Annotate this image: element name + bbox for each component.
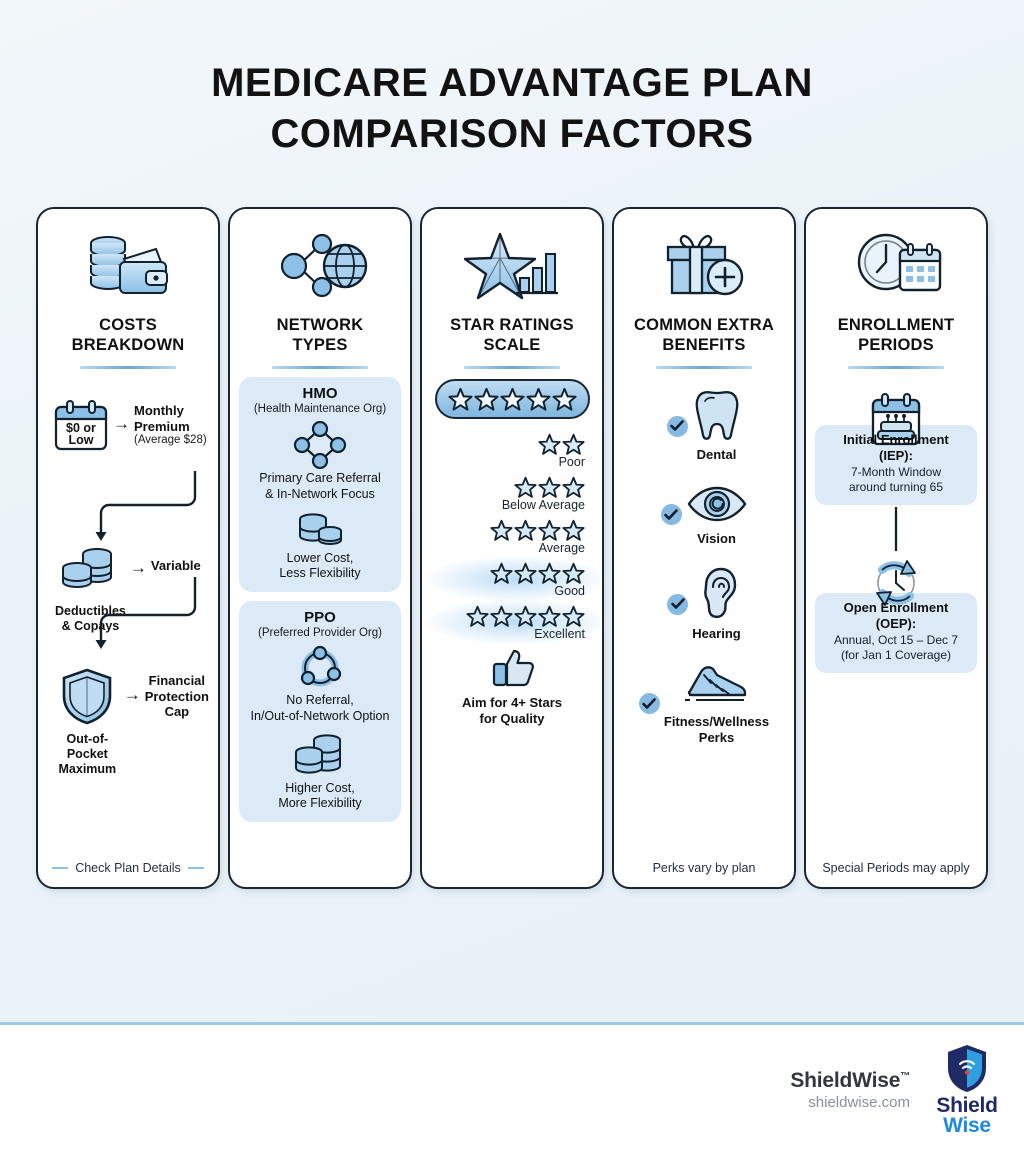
sneaker-icon [680, 662, 754, 713]
oop-caption-l1: Out-of-Pocket [67, 732, 109, 761]
page-footer: ShieldWise™ shieldwise.com Shield Wise [0, 1025, 1024, 1154]
card-star-ratings[interactable]: STAR RATINGS SCALE PoorBelow AverageAver… [420, 207, 604, 889]
card-title-star-l1: STAR RATINGS [450, 316, 574, 334]
period-iep-name: Initial Enrollment (IEP): [821, 432, 971, 464]
check-icon-4 [639, 693, 660, 714]
card-title-enrollment-l1: ENROLLMENT [838, 316, 955, 334]
plan-hmo-text-2a: Lower Cost, [287, 551, 354, 565]
premium-label-1: Monthly [134, 403, 207, 419]
card-network-types[interactable]: NETWORK TYPES HMO (Health Maintenance Or… [228, 207, 412, 889]
enrollment-periods: Initial Enrollment (IEP): 7-Month Window… [815, 377, 977, 861]
card-title-enrollment: ENROLLMENT PERIODS [838, 315, 955, 355]
period-iep-box: Initial Enrollment (IEP): 7-Month Window… [815, 425, 977, 505]
variable-label: Variable [151, 558, 201, 574]
premium-label-2: Premium [134, 419, 207, 435]
plan-ppo-text-2: Higher Cost, More Flexibility [245, 781, 395, 812]
rating-row-average[interactable]: Average [431, 519, 593, 555]
benefit-vision-label: Vision [697, 531, 736, 547]
costs-footer: Check Plan Details [52, 861, 204, 877]
period-oep-name-l2: (OEP): [876, 616, 916, 631]
plan-hmo-text-1b: & In-Network Focus [265, 487, 375, 501]
premium-average: (Average $28) [134, 434, 207, 446]
coins-wallet-icon [82, 225, 174, 307]
plan-hmo-text-2: Lower Cost, Less Flexibility [245, 551, 395, 582]
aim-text-l2: for Quality [479, 711, 544, 726]
period-oep-name-l1: Open Enrollment [844, 600, 949, 615]
star-icon [538, 433, 561, 456]
thumbs-up-icon [431, 648, 593, 693]
enrollment-footer-text: Special Periods may apply [822, 861, 969, 875]
clock-calendar-icon [850, 225, 942, 307]
check-icon-2 [661, 504, 682, 525]
card-title-network-l2: TYPES [292, 336, 347, 354]
rating-stars [490, 562, 585, 585]
rating-stars [490, 519, 585, 542]
costs-footer-text: Check Plan Details [75, 861, 181, 875]
gift-plus-icon [659, 225, 749, 307]
title-rule-4 [656, 366, 752, 369]
card-extra-benefits[interactable]: COMMON EXTRA BENEFITS [612, 207, 796, 889]
card-title-star: STAR RATINGS SCALE [450, 315, 574, 355]
rating-label: Poor [559, 455, 585, 469]
title-rule-3 [464, 366, 560, 369]
check-icon-3 [667, 594, 688, 615]
star-icon [474, 387, 499, 412]
card-title-benefits-l2: BENEFITS [662, 336, 745, 354]
star-icon [490, 519, 513, 542]
network-globe-icon [272, 225, 368, 307]
plan-ppo[interactable]: PPO (Preferred Provider Org) No Referral… [239, 601, 401, 822]
five-star-pill [435, 379, 590, 419]
card-costs-breakdown[interactable]: COSTS BREAKDOWN $0 or Low [36, 207, 220, 889]
card-title-star-l2: SCALE [484, 336, 541, 354]
enrollment-connector [815, 505, 977, 553]
plan-ppo-text-1a: No Referral, [286, 693, 353, 707]
card-title-costs-l1: COSTS [99, 316, 157, 334]
star-icon [514, 605, 537, 628]
arrow-right-icon-2: → [130, 559, 147, 576]
plan-ppo-name: PPO [245, 609, 395, 626]
star-icon [526, 387, 551, 412]
network-ring-icon [245, 645, 395, 691]
check-icon [667, 416, 688, 437]
card-enrollment-periods[interactable]: ENROLLMENT PERIODS [804, 207, 988, 889]
svg-text:Low: Low [69, 433, 94, 447]
cap-label-3: Cap [145, 704, 209, 720]
brand-name-text: ShieldWise [790, 1069, 900, 1092]
coin-stacks-tall-icon [245, 733, 395, 779]
star-icon [538, 605, 561, 628]
brand-name: ShieldWise™ [790, 1069, 910, 1093]
plan-hmo-text-1: Primary Care Referral & In-Network Focus [245, 471, 395, 502]
benefit-fitness[interactable]: Fitness/Wellness Perks [623, 662, 785, 745]
period-oep-name: Open Enrollment (OEP): [821, 600, 971, 632]
star-icon [538, 562, 561, 585]
star-icon [562, 519, 585, 542]
title-line-1: MEDICARE ADVANTAGE PLAN [0, 58, 1024, 109]
star-icon [514, 519, 537, 542]
flow-connector-2 [91, 575, 201, 655]
network-plans: HMO (Health Maintenance Org) Primary Car… [239, 377, 401, 877]
benefit-vision[interactable]: Vision [623, 483, 785, 547]
title-rule-2 [272, 366, 368, 369]
brand-block: ShieldWise™ shieldwise.com [790, 1069, 910, 1111]
benefit-fitness-label: Fitness/Wellness Perks [664, 714, 769, 745]
brand-website: shieldwise.com [790, 1094, 910, 1111]
rating-row-poor[interactable]: Poor [431, 433, 593, 469]
arrow-right-icon: → [113, 415, 130, 432]
star-icon [538, 519, 561, 542]
rating-row-good[interactable]: Good [431, 562, 593, 598]
star-icon [466, 605, 489, 628]
benefit-dental[interactable]: Dental [623, 389, 785, 463]
infographic-page: MEDICARE ADVANTAGE PLAN COMPARISON FACTO… [0, 0, 1024, 1154]
period-oep-text: Annual, Oct 15 – Dec 7 (for Jan 1 Covera… [821, 633, 971, 663]
cost-step-premium: $0 or Low → Monthly Premium (Average $28… [53, 399, 207, 456]
cap-label-1: Financial [145, 673, 209, 689]
foot-dash-left [52, 867, 68, 869]
benefit-dental-label: Dental [697, 447, 737, 463]
foot-dash-right [188, 867, 204, 869]
benefits-list: Dental [623, 377, 785, 861]
costs-flow: $0 or Low → Monthly Premium (Average $28… [47, 377, 209, 861]
star-icon [448, 387, 473, 412]
star-icon [490, 562, 513, 585]
star-icon [514, 562, 537, 585]
plan-ppo-text-1b: In/Out-of-Network Option [251, 709, 390, 723]
star-icon [500, 387, 525, 412]
network-diamond-icon [245, 421, 395, 469]
star-icon [562, 476, 585, 499]
card-title-costs-l2: BREAKDOWN [72, 336, 185, 354]
comparison-cards: COSTS BREAKDOWN $0 or Low [36, 207, 988, 889]
card-title-enrollment-l2: PERIODS [858, 336, 934, 354]
plan-ppo-text-1: No Referral, In/Out-of-Network Option [245, 693, 395, 724]
trademark-symbol: ™ [900, 1071, 910, 1082]
star-icon [490, 605, 513, 628]
star-scale: PoorBelow AverageAverageGoodExcellent Ai… [431, 377, 593, 877]
rating-stars [466, 605, 585, 628]
logo-word-shield: Shield [936, 1096, 997, 1116]
rating-stars [514, 476, 585, 499]
plan-hmo-text-1a: Primary Care Referral [259, 471, 381, 485]
plan-hmo-name: HMO [245, 385, 395, 402]
aim-block: Aim for 4+ Stars for Quality [431, 648, 593, 726]
benefit-hearing[interactable]: Hearing [623, 566, 785, 642]
card-title-network: NETWORK TYPES [277, 315, 364, 355]
card-title-benefits: COMMON EXTRA BENEFITS [634, 315, 774, 355]
rating-row-below-average[interactable]: Below Average [431, 476, 593, 512]
star-icon [552, 387, 577, 412]
coin-stacks-small-icon [245, 511, 395, 549]
oop-caption-l2: Maximum [59, 762, 117, 776]
title-rule [80, 366, 176, 369]
tooth-icon [692, 389, 742, 446]
plan-hmo-text-2b: Less Flexibility [279, 566, 360, 580]
page-title: MEDICARE ADVANTAGE PLAN COMPARISON FACTO… [0, 0, 1024, 160]
plan-ppo-full: (Preferred Provider Org) [245, 627, 395, 639]
period-iep-name-l2: (IEP): [879, 448, 913, 463]
eye-icon [686, 483, 748, 530]
period-iep-text-l1: 7-Month Window [851, 465, 941, 479]
rating-label: Average [539, 541, 585, 555]
title-rule-5 [848, 366, 944, 369]
star-icon [514, 476, 537, 499]
flow-connector-1 [91, 469, 201, 547]
star-bar-chart-icon [464, 225, 560, 307]
period-oep-text-l1: Annual, Oct 15 – Dec 7 [834, 633, 958, 647]
card-title-costs: COSTS BREAKDOWN [72, 315, 185, 355]
shield-wifi-logo-icon[interactable]: Shield Wise [928, 1043, 1006, 1136]
period-oep[interactable]: Open Enrollment (OEP): Annual, Oct 15 – … [815, 553, 977, 673]
star-icon [538, 476, 561, 499]
plan-ppo-text-2b: More Flexibility [278, 796, 361, 810]
card-title-network-l1: NETWORK [277, 316, 364, 334]
rating-row-excellent[interactable]: Excellent [431, 605, 593, 641]
rating-stars [538, 433, 585, 456]
aim-text-l1: Aim for 4+ Stars [462, 695, 562, 710]
arrow-right-icon-3: → [124, 686, 141, 703]
rating-label: Below Average [502, 498, 585, 512]
plan-ppo-text-2a: Higher Cost, [285, 781, 354, 795]
logo-word-wise: Wise [943, 1116, 991, 1136]
period-iep-text: 7-Month Window around turning 65 [821, 465, 971, 495]
period-iep-name-l1: Initial Enrollment [843, 432, 948, 447]
benefits-footer: Perks vary by plan [653, 861, 756, 877]
star-icon [562, 605, 585, 628]
ear-icon [696, 566, 738, 625]
shield-icon [60, 667, 114, 730]
cost-step-oop-max: Out-of-Pocket Maximum → Financial Protec… [55, 667, 209, 777]
period-iep[interactable]: Initial Enrollment (IEP): 7-Month Window… [815, 391, 977, 505]
benefit-hearing-label: Hearing [692, 626, 740, 642]
rating-label: Good [554, 584, 585, 598]
oop-caption: Out-of-Pocket Maximum [55, 732, 120, 777]
cap-label-2: Protection [145, 689, 209, 705]
plan-hmo[interactable]: HMO (Health Maintenance Org) Primary Car… [239, 377, 401, 592]
aim-text: Aim for 4+ Stars for Quality [431, 695, 593, 726]
period-oep-box: Open Enrollment (OEP): Annual, Oct 15 – … [815, 593, 977, 673]
period-iep-text-l2: around turning 65 [849, 480, 943, 494]
title-line-2: COMPARISON FACTORS [0, 109, 1024, 160]
card-title-benefits-l1: COMMON EXTRA [634, 316, 774, 334]
benefit-fitness-label-l2: Perks [699, 730, 734, 745]
star-icon [562, 562, 585, 585]
period-oep-text-l2: (for Jan 1 Coverage) [841, 648, 951, 662]
enrollment-footer: Special Periods may apply [822, 861, 969, 877]
rating-label: Excellent [534, 627, 585, 641]
star-icon [562, 433, 585, 456]
plan-hmo-full: (Health Maintenance Org) [245, 403, 395, 415]
benefits-footer-text: Perks vary by plan [653, 861, 756, 875]
calendar-zero-dollar-icon: $0 or Low [53, 399, 109, 456]
benefit-fitness-label-l1: Fitness/Wellness [664, 714, 769, 729]
rating-rows: PoorBelow AverageAverageGoodExcellent [431, 433, 593, 641]
